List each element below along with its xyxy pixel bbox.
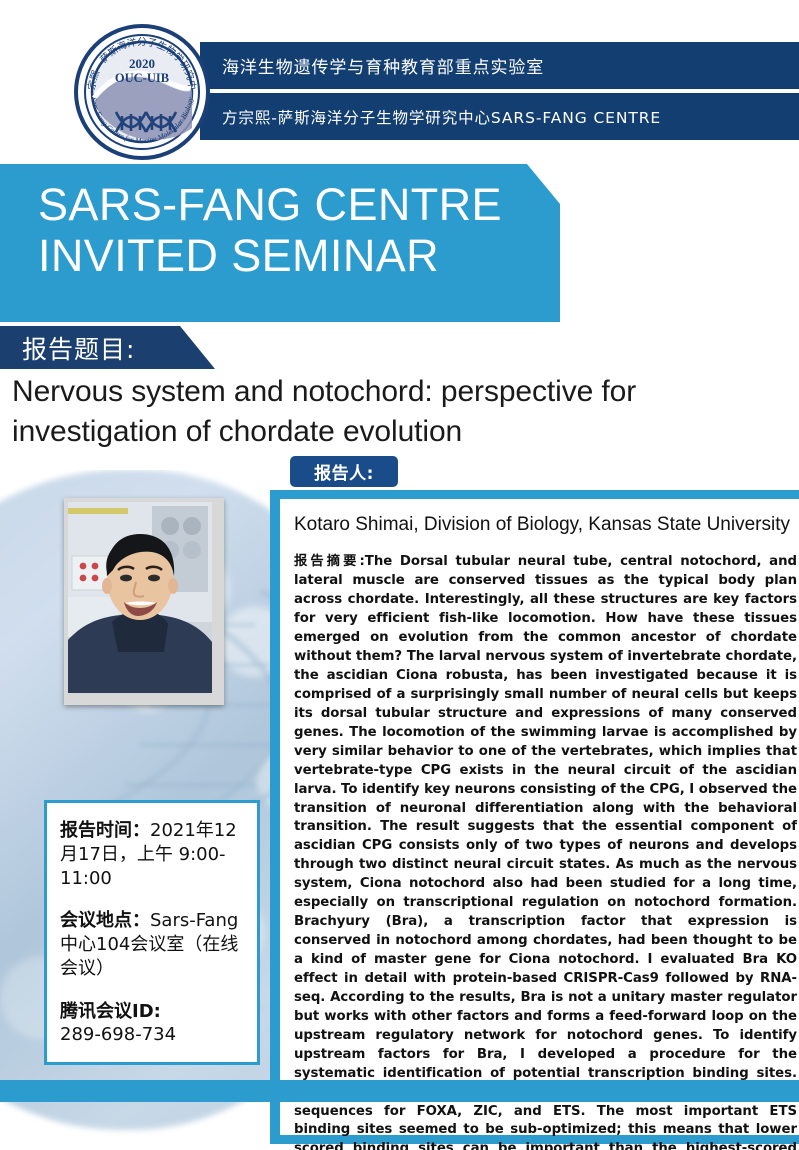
abstract-text: The Dorsal tubular neural tube, central … xyxy=(294,554,797,1150)
info-meeting-id: 腾讯会议ID: 289-698-734 xyxy=(60,997,247,1047)
info-meeting-value: 289-698-734 xyxy=(60,1023,247,1047)
info-time-key: 报告时间： xyxy=(60,820,150,841)
speaker-portrait-image xyxy=(68,502,212,693)
info-place-key: 会议地点： xyxy=(60,910,150,931)
header-bar-centre: 方宗熙-萨斯海洋分子生物学研究中心SARS-FANG CENTRE xyxy=(200,93,799,140)
speaker-tag: 报告人: xyxy=(290,456,398,487)
footer-bar xyxy=(0,1080,799,1102)
header-lab-text: 海洋生物遗传学与育种教育部重点实验室 xyxy=(200,53,544,78)
topic-tag-label: 报告题目: xyxy=(0,330,135,366)
sars-fang-logo-icon: 2020 OUC-UIB 方宗熙－萨斯海洋分子生物学研究中心 Sars-Fang… xyxy=(74,24,210,160)
abstract-body: 报告摘要:The Dorsal tubular neural tube, cen… xyxy=(294,553,797,1150)
banner-title: SARS-FANG CENTRE INVITED SEMINAR xyxy=(0,164,560,282)
banner-title-line2: INVITED SEMINAR xyxy=(38,231,560,282)
speaker-name-affiliation: Kotaro Shimai, Division of Biology, Kans… xyxy=(294,513,797,537)
banner-title-line1: SARS-FANG CENTRE xyxy=(38,179,502,230)
logo-code: OUC-UIB xyxy=(115,71,169,85)
info-meeting-key: 腾讯会议ID: xyxy=(60,997,247,1023)
topic-tag: 报告题目: xyxy=(0,326,215,369)
info-time: 报告时间：2021年12月17日，上午 9:00-11:00 xyxy=(60,816,247,890)
logo-year: 2020 xyxy=(129,56,155,71)
abstract-panel: Kotaro Shimai, Division of Biology, Kans… xyxy=(270,490,799,1144)
seminar-poster: 海洋生物遗传学与育种教育部重点实验室 方宗熙-萨斯海洋分子生物学研究中心SARS… xyxy=(0,0,799,1150)
talk-title: Nervous system and notochord: perspectiv… xyxy=(12,372,712,452)
header-bar-lab: 海洋生物遗传学与育种教育部重点实验室 xyxy=(200,42,799,89)
header-centre-text: 方宗熙-萨斯海洋分子生物学研究中心SARS-FANG CENTRE xyxy=(200,106,661,128)
speaker-tag-label: 报告人: xyxy=(314,459,374,484)
abstract-label: 报告摘要: xyxy=(294,554,365,569)
speaker-photo xyxy=(64,498,224,705)
info-place: 会议地点：Sars-Fang中心104会议室（在线会议） xyxy=(60,906,247,980)
seminar-banner: SARS-FANG CENTRE INVITED SEMINAR xyxy=(0,164,560,322)
event-info-box: 报告时间：2021年12月17日，上午 9:00-11:00 会议地点：Sars… xyxy=(44,800,260,1065)
